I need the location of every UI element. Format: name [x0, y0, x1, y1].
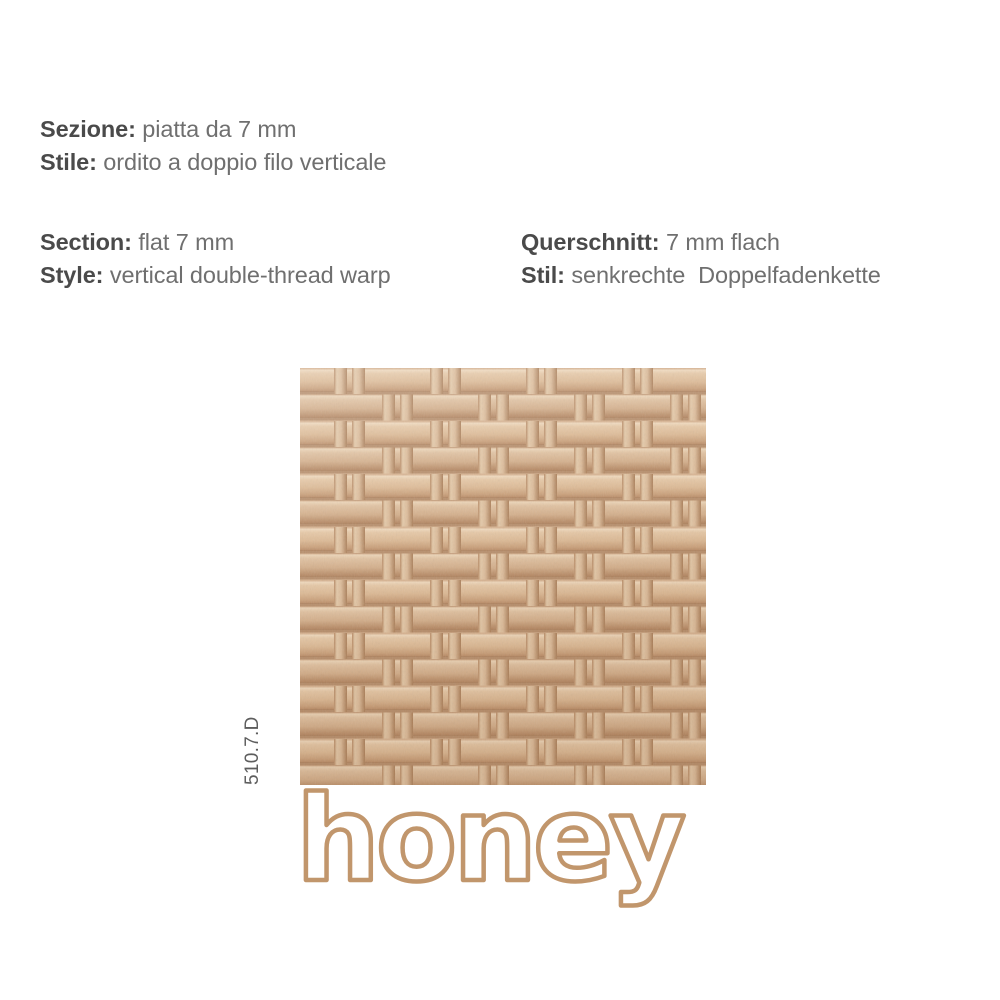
spec-line-section-de: Querschnitt: 7 mm flach	[521, 226, 881, 259]
spec-value-section-de: 7 mm flach	[660, 229, 780, 255]
spec-value-style-it: ordito a doppio filo verticale	[97, 149, 387, 175]
spec-line-style-de: Stil: senkrechte Doppelfadenkette	[521, 259, 881, 292]
spec-label-style-it: Stile:	[40, 149, 97, 175]
material-name-wordmark: honey	[296, 792, 656, 900]
spec-line-style-it: Stile: ordito a doppio filo verticale	[40, 146, 386, 179]
spec-value-style-de: senkrechte Doppelfadenkette	[565, 262, 881, 288]
spec-value-section-en: flat 7 mm	[132, 229, 234, 255]
spec-label-style-de: Stil:	[521, 262, 565, 288]
spec-block-german: Querschnitt: 7 mm flach Stil: senkrechte…	[521, 226, 881, 292]
spec-label-section-it: Sezione:	[40, 116, 136, 142]
spec-line-style-en: Style: vertical double-thread warp	[40, 259, 391, 292]
spec-block-english: Section: flat 7 mm Style: vertical doubl…	[40, 226, 391, 292]
spec-block-italian: Sezione: piatta da 7 mm Stile: ordito a …	[40, 113, 386, 179]
spec-value-section-it: piatta da 7 mm	[136, 116, 296, 142]
spec-label-section-en: Section:	[40, 229, 132, 255]
swatch-code-label: 510.7.D	[242, 716, 264, 785]
spec-label-section-de: Querschnitt:	[521, 229, 660, 255]
spec-value-style-en: vertical double-thread warp	[103, 262, 390, 288]
spec-line-section-it: Sezione: piatta da 7 mm	[40, 113, 386, 146]
spec-label-style-en: Style:	[40, 262, 103, 288]
swatch-container: 510.7.D	[300, 368, 706, 785]
weave-swatch-image	[300, 368, 706, 785]
wordmark-text: honey	[296, 770, 684, 908]
spec-line-section-en: Section: flat 7 mm	[40, 226, 391, 259]
